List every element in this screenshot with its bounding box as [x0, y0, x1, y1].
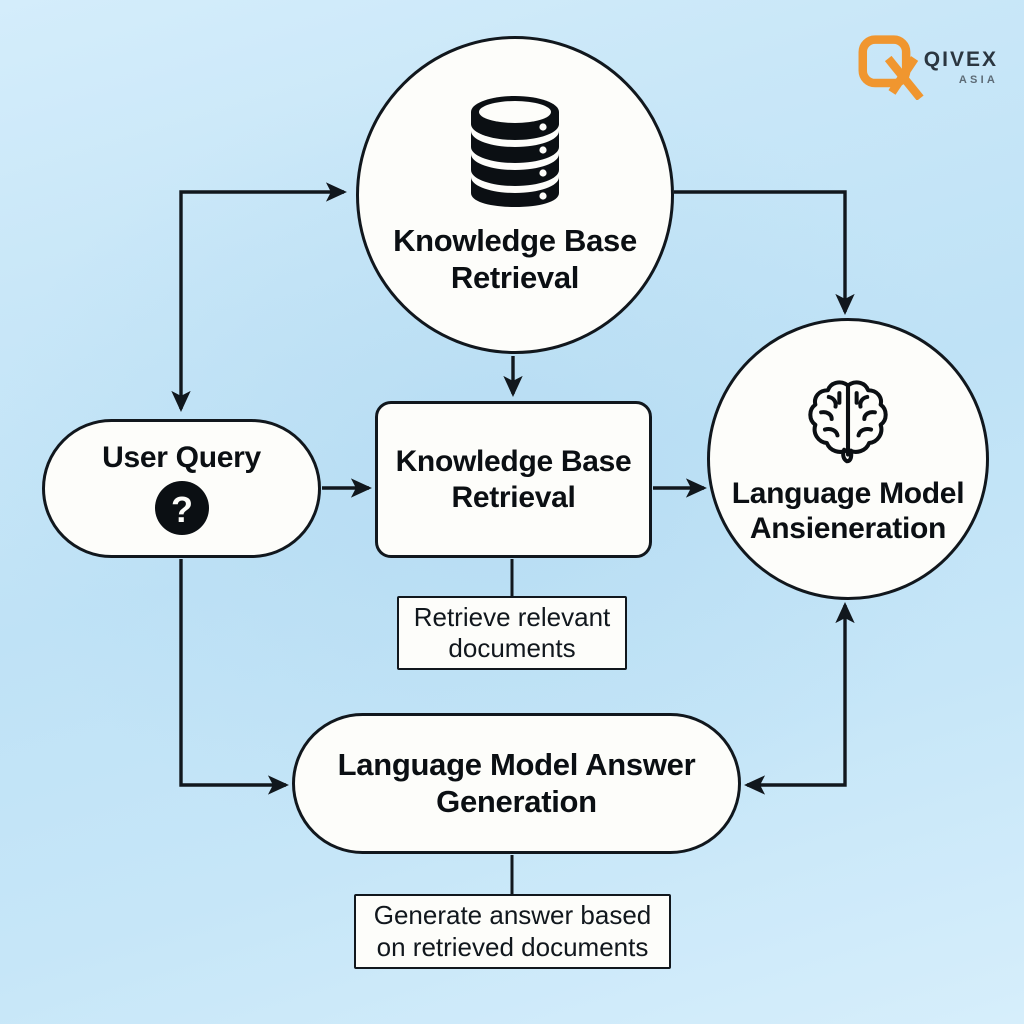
brain-icon: [800, 372, 896, 468]
diagram-canvas: QIVEX ASIA Knowledge Base Retrieval User…: [0, 0, 1024, 1024]
q-letter-mark-icon: [854, 34, 930, 100]
qivex-asia-logo: QIVEX ASIA: [854, 34, 998, 100]
node-label: Language Model Answer Generation: [295, 747, 738, 820]
node-label: User Query: [102, 440, 261, 475]
node-label: Knowledge Base Retrieval: [378, 444, 649, 515]
logo-sub-text: ASIA: [924, 75, 998, 86]
annotation-text: Retrieve relevant documents: [399, 602, 625, 664]
node-knowledge-base-retrieval-circle[interactable]: Knowledge Base Retrieval: [356, 36, 674, 354]
node-label: Language Model Ansieneration: [710, 476, 986, 547]
database-icon: [469, 94, 561, 209]
annotation-generate-answer: Generate answer based on retrieved docum…: [354, 894, 671, 969]
svg-text:?: ?: [171, 489, 193, 530]
annotation-text: Generate answer based on retrieved docum…: [356, 900, 669, 962]
edge-userquery-to-answerpill: [181, 559, 286, 785]
node-user-query[interactable]: User Query ?: [42, 419, 321, 558]
edge-kbcircle-to-llmcircle: [674, 192, 845, 312]
node-language-model-circle[interactable]: Language Model Ansieneration: [707, 318, 989, 600]
node-language-model-answer-generation[interactable]: Language Model Answer Generation: [292, 713, 741, 854]
question-mark-icon: ?: [153, 479, 211, 537]
edge-kbcircle-to-userquery: [181, 192, 344, 409]
logo-brand-text: QIVEX: [924, 49, 998, 70]
node-label: Knowledge Base Retrieval: [359, 223, 671, 296]
annotation-retrieve-relevant-documents: Retrieve relevant documents: [397, 596, 627, 670]
edge-llmcircle-to-answerpill: [747, 605, 845, 785]
node-knowledge-base-retrieval-box[interactable]: Knowledge Base Retrieval: [375, 401, 652, 558]
